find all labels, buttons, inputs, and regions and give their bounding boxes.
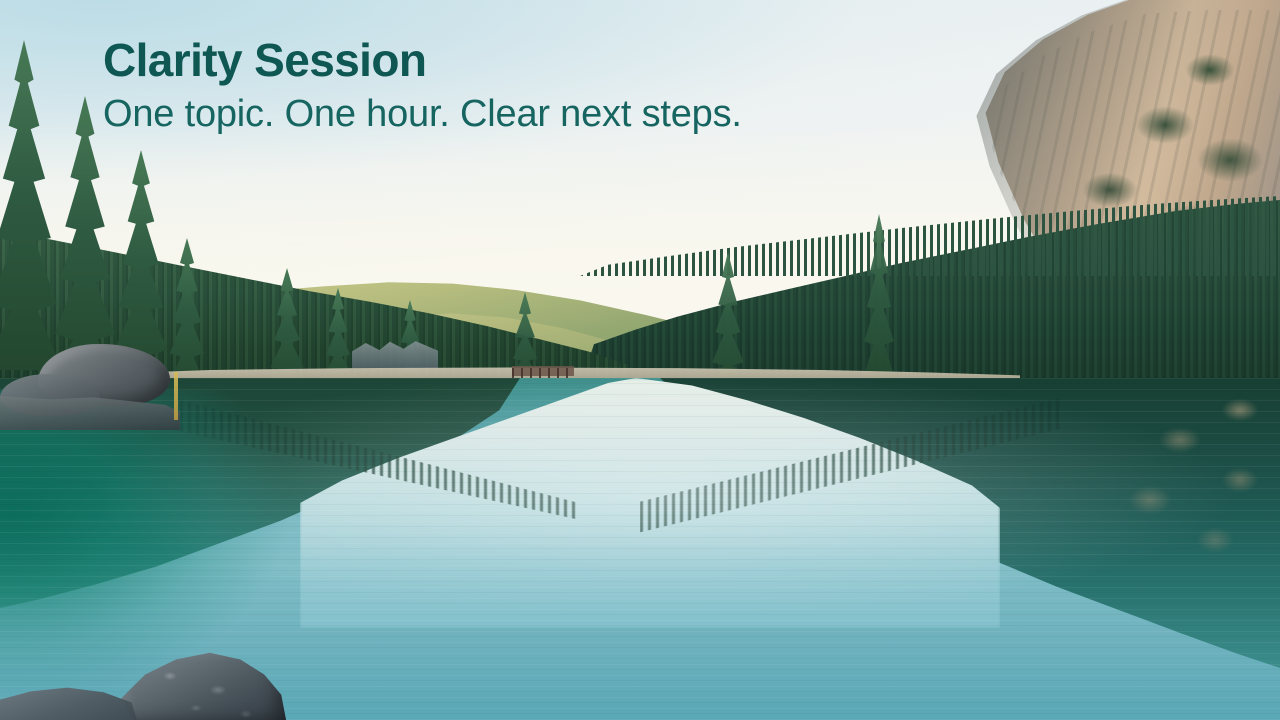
headline-block: Clarity Session One topic. One hour. Cle… [103, 36, 1003, 137]
yellow-marker-post [174, 372, 178, 420]
page-title: Clarity Session [103, 36, 1003, 86]
page-subtitle: One topic. One hour. Clear next steps. [103, 92, 1003, 138]
hero-banner: Clarity Session One topic. One hour. Cle… [0, 0, 1280, 720]
